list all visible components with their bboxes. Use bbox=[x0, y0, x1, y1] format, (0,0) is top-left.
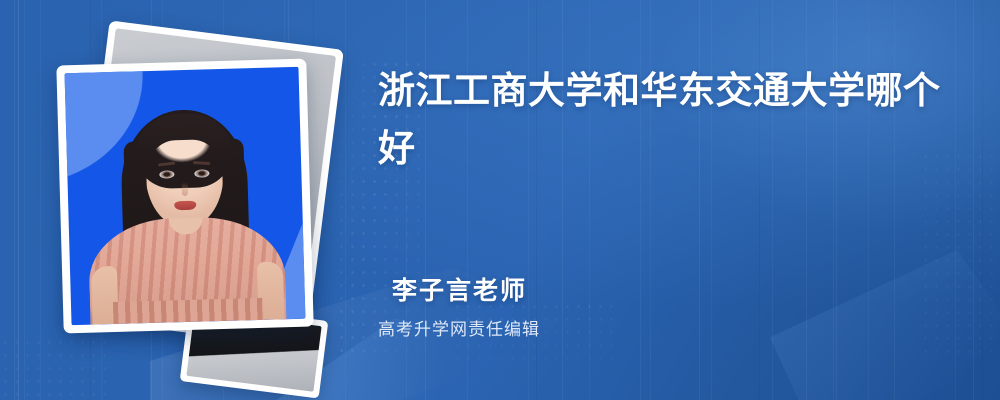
teacher-portrait bbox=[65, 67, 306, 325]
photo-card-stack bbox=[44, 36, 344, 346]
dot-grid-pattern bbox=[452, 300, 612, 400]
vertical-line-pattern bbox=[806, 0, 807, 400]
vertical-line-pattern bbox=[868, 0, 869, 400]
author-name: 李子言老师 bbox=[392, 276, 527, 306]
author-role: 高考升学网责任编辑 bbox=[378, 318, 540, 342]
portrait-photo bbox=[65, 67, 306, 325]
page-title: 浙江工商大学和华东交通大学哪个好 bbox=[378, 62, 958, 178]
promo-banner: 浙江工商大学和华东交通大学哪个好 李子言老师 高考升学网责任编辑 bbox=[0, 0, 1000, 400]
dot-grid-pattern bbox=[920, 150, 1000, 360]
vertical-line-pattern bbox=[18, 0, 19, 400]
vertical-line-pattern bbox=[24, 0, 25, 400]
diagonal-light-wedge bbox=[770, 250, 1000, 400]
author-block: 李子言老师 bbox=[392, 276, 527, 306]
portrait-hair-front bbox=[135, 113, 233, 190]
portrait-nose bbox=[182, 182, 188, 196]
portrait-dress-waist bbox=[113, 298, 264, 324]
portrait-photo-card bbox=[56, 59, 313, 334]
vertical-line-pattern bbox=[640, 0, 641, 400]
banner-copy: 浙江工商大学和华东交通大学哪个好 bbox=[378, 62, 958, 178]
portrait-mouth bbox=[174, 201, 196, 211]
